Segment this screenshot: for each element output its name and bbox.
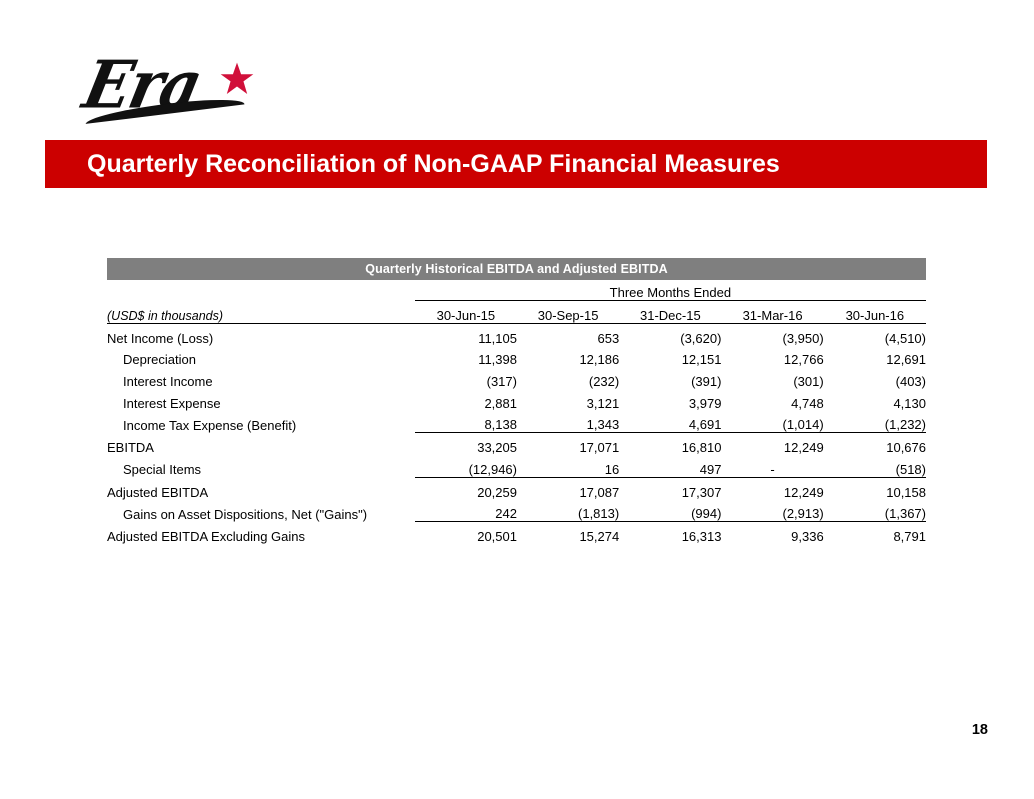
row-value: 17,307 [619,477,721,499]
table-head: Three Months Ended (USD$ in thousands) 3… [107,280,926,324]
row-value: (1,014) [721,411,823,433]
row-value: 2,881 [415,389,517,411]
period-group-header: Three Months Ended [415,280,926,301]
row-value: 11,105 [415,324,517,346]
table-row: Gains on Asset Dispositions, Net ("Gains… [107,500,926,522]
row-label: Depreciation [107,346,415,368]
row-value: 16,313 [619,522,721,544]
row-value: (12,946) [415,455,517,477]
column-header-q2: 30-Sep-15 [517,301,619,324]
row-value: 242 [415,500,517,522]
star-icon [220,62,254,96]
row-value: 12,249 [721,433,823,455]
table-row: Interest Expense2,8813,1213,9794,7484,13… [107,389,926,411]
row-value: (232) [517,367,619,389]
row-value: 4,130 [824,389,926,411]
units-label: (USD$ in thousands) [107,301,415,324]
row-value: 3,121 [517,389,619,411]
row-value: (301) [721,367,823,389]
spacer-cell [107,280,415,301]
table-row: Income Tax Expense (Benefit)8,1381,3434,… [107,411,926,433]
era-logo: Era [78,58,268,120]
row-label: Adjusted EBITDA Excluding Gains [107,522,415,544]
column-header-row: (USD$ in thousands) 30-Jun-15 30-Sep-15 … [107,301,926,324]
table-row: Net Income (Loss)11,105653(3,620)(3,950)… [107,324,926,346]
row-value: (403) [824,367,926,389]
row-value: (391) [619,367,721,389]
row-value: 12,766 [721,346,823,368]
row-value: 33,205 [415,433,517,455]
row-label: Interest Expense [107,389,415,411]
row-value: 16,810 [619,433,721,455]
column-header-q3: 31-Dec-15 [619,301,721,324]
row-value: 8,791 [824,522,926,544]
column-header-q1: 30-Jun-15 [415,301,517,324]
row-value: 497 [619,455,721,477]
row-value: 12,691 [824,346,926,368]
row-value: 12,186 [517,346,619,368]
row-value: (4,510) [824,324,926,346]
row-value: 3,979 [619,389,721,411]
row-value: (3,950) [721,324,823,346]
row-value: 15,274 [517,522,619,544]
row-value: 4,691 [619,411,721,433]
row-value: 8,138 [415,411,517,433]
row-label: Net Income (Loss) [107,324,415,346]
table-caption: Quarterly Historical EBITDA and Adjusted… [107,258,926,280]
row-value: 20,501 [415,522,517,544]
row-value: 4,748 [721,389,823,411]
ebitda-reconciliation-table: Three Months Ended (USD$ in thousands) 3… [107,280,926,544]
row-label: Gains on Asset Dispositions, Net ("Gains… [107,500,415,522]
table-row: Adjusted EBITDA Excluding Gains20,50115,… [107,522,926,544]
column-header-q4: 31-Mar-16 [721,301,823,324]
row-value: 12,249 [721,477,823,499]
slide-title-banner: Quarterly Reconciliation of Non-GAAP Fin… [45,140,987,188]
table-row: Adjusted EBITDA20,25917,08717,30712,2491… [107,477,926,499]
period-group-header-row: Three Months Ended [107,280,926,301]
column-header-q5: 30-Jun-16 [824,301,926,324]
row-value: 653 [517,324,619,346]
row-value: (2,913) [721,500,823,522]
row-label: Special Items [107,455,415,477]
row-value: 17,071 [517,433,619,455]
row-value: 10,158 [824,477,926,499]
row-value: (1,232) [824,411,926,433]
row-value: (1,367) [824,500,926,522]
page-number: 18 [972,722,988,738]
row-value: 9,336 [721,522,823,544]
row-label: EBITDA [107,433,415,455]
financial-table-container: Quarterly Historical EBITDA and Adjusted… [107,258,926,544]
row-value: 11,398 [415,346,517,368]
row-label: Interest Income [107,367,415,389]
table-row: Interest Income(317)(232)(391)(301)(403) [107,367,926,389]
row-label: Adjusted EBITDA [107,477,415,499]
table-row: Special Items(12,946)16497-(518) [107,455,926,477]
row-value: 10,676 [824,433,926,455]
row-value: (518) [824,455,926,477]
table-body: Net Income (Loss)11,105653(3,620)(3,950)… [107,324,926,544]
table-row: Depreciation11,39812,18612,15112,76612,6… [107,346,926,368]
row-value: 12,151 [619,346,721,368]
page-title: Quarterly Reconciliation of Non-GAAP Fin… [87,140,977,188]
row-value: 20,259 [415,477,517,499]
row-value: (994) [619,500,721,522]
row-value: 16 [517,455,619,477]
row-value: (1,813) [517,500,619,522]
row-value: - [721,455,823,477]
table-row: EBITDA33,20517,07116,81012,24910,676 [107,433,926,455]
row-value: (3,620) [619,324,721,346]
row-value: 1,343 [517,411,619,433]
row-label: Income Tax Expense (Benefit) [107,411,415,433]
row-value: 17,087 [517,477,619,499]
row-value: (317) [415,367,517,389]
